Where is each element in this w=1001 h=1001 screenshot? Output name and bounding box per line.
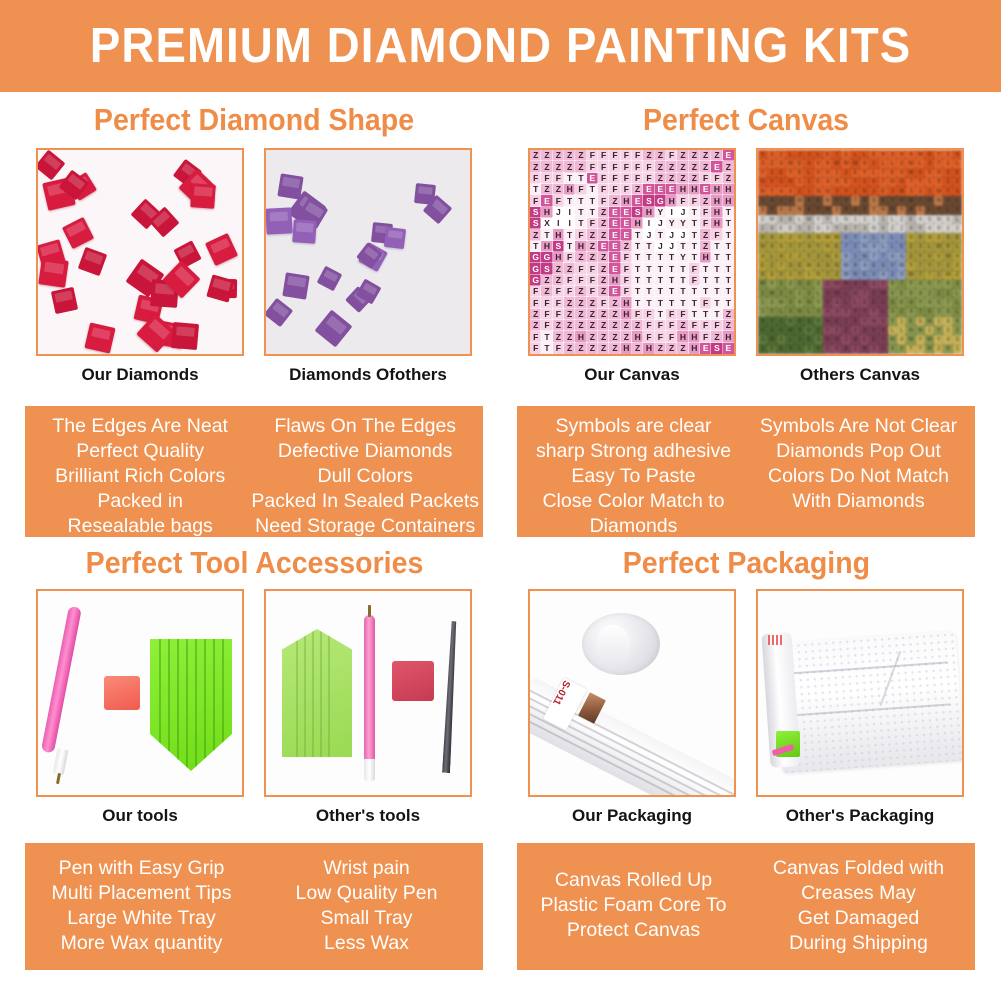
canvas-symbol-cell: N bbox=[786, 317, 795, 326]
canvas-symbol-cell: I bbox=[666, 207, 677, 218]
canvas-symbol-cell: 7 bbox=[879, 178, 888, 187]
canvas-symbol-cell: M bbox=[943, 271, 952, 280]
canvas-symbol-cell: Z bbox=[723, 320, 734, 331]
canvas-symbol-cell: Z bbox=[925, 289, 934, 298]
canvas-symbol-cell: V bbox=[906, 233, 915, 242]
canvas-symbol-cell: Z bbox=[758, 224, 767, 233]
canvas-symbol-cell: 7 bbox=[879, 169, 888, 178]
canvas-symbol-cell: 4 bbox=[804, 206, 813, 215]
canvas-symbol-cell: J bbox=[643, 229, 654, 240]
canvas-symbol-cell: 7 bbox=[916, 261, 925, 270]
canvas-symbol-cell: L bbox=[860, 150, 869, 159]
canvas-symbol-cell: 3 bbox=[823, 289, 832, 298]
canvas-symbol-cell: V bbox=[897, 206, 906, 215]
canvas-symbol-cell: Z bbox=[564, 331, 575, 342]
canvas-symbol-cell: 1 bbox=[758, 289, 767, 298]
canvas-symbol-cell: Z bbox=[530, 150, 541, 161]
canvas-symbol-cell: F bbox=[609, 150, 620, 161]
canvas-symbol-cell: 1 bbox=[777, 280, 786, 289]
canvas-symbol-cell: E bbox=[860, 335, 869, 344]
canvas-symbol-cell: S bbox=[925, 280, 934, 289]
feature-box-canvas: Symbols are clearsharp Strong adhesiveEa… bbox=[517, 406, 975, 537]
canvas-symbol-cell: 2 bbox=[851, 206, 860, 215]
canvas-symbol-cell: E bbox=[700, 343, 711, 354]
canvas-symbol-cell: 4 bbox=[777, 252, 786, 261]
features-row-1: The Edges Are NeatPerfect QualityBrillia… bbox=[8, 406, 993, 537]
feature-line: Brilliant Rich Colors bbox=[29, 464, 251, 489]
canvas-symbol-cell: Z bbox=[786, 233, 795, 242]
canvas-symbol-cell: S bbox=[860, 196, 869, 205]
canvas-symbol-cell: Z bbox=[587, 343, 598, 354]
photo-cell-our-packaging: S-011 Our Packaging bbox=[528, 589, 736, 835]
canvas-symbol-cell: T bbox=[655, 309, 666, 320]
canvas-symbol-cell: E bbox=[723, 343, 734, 354]
diamond-drill bbox=[84, 322, 115, 353]
canvas-symbol-cell: T bbox=[689, 309, 700, 320]
canvas-symbol-cell: E bbox=[897, 298, 906, 307]
canvas-symbol-cell: Y bbox=[786, 169, 795, 178]
canvas-symbol-cell: S bbox=[925, 215, 934, 224]
canvas-symbol-cell: Z bbox=[553, 161, 564, 172]
canvas-symbol-cell: Y bbox=[814, 243, 823, 252]
canvas-symbol-cell: N bbox=[841, 280, 850, 289]
canvas-symbol-cell: T bbox=[564, 173, 575, 184]
canvas-symbol-cell: L bbox=[814, 150, 823, 159]
canvas-symbol-cell: N bbox=[786, 178, 795, 187]
canvas-symbol-cell: Z bbox=[564, 320, 575, 331]
canvas-symbol-cell: V bbox=[869, 326, 878, 335]
canvas-symbol-cell: Z bbox=[814, 326, 823, 335]
canvas-symbol-cell: F bbox=[530, 343, 541, 354]
canvas-symbol-cell: E bbox=[598, 241, 609, 252]
canvas-symbol-cell: H bbox=[575, 241, 586, 252]
photo-caption-other-tools: Other's tools bbox=[264, 797, 472, 835]
canvas-symbol-cell: 3 bbox=[758, 206, 767, 215]
canvas-symbol-cell: Z bbox=[598, 320, 609, 331]
canvas-symbol-cell: 1 bbox=[925, 178, 934, 187]
canvas-symbol-cell: N bbox=[814, 271, 823, 280]
canvas-symbol-cell: 4 bbox=[851, 280, 860, 289]
canvas-symbol-cell: G bbox=[541, 252, 552, 263]
canvas-symbol-cell: E bbox=[906, 317, 915, 326]
canvas-symbol-cell: L bbox=[879, 159, 888, 168]
canvas-symbol-cell: 1 bbox=[943, 159, 952, 168]
canvas-symbol-cell: 4 bbox=[953, 150, 962, 159]
canvas-symbol-cell: Z bbox=[689, 150, 700, 161]
features-row-2: Pen with Easy GripMulti Placement TipsLa… bbox=[8, 843, 993, 970]
canvas-symbol-cell: Z bbox=[575, 252, 586, 263]
canvas-symbol-cell: Z bbox=[823, 345, 832, 354]
canvas-symbol-cell: T bbox=[689, 252, 700, 263]
canvas-symbol-cell: S bbox=[916, 169, 925, 178]
canvas-symbol-cell: 2 bbox=[860, 178, 869, 187]
canvas-symbol-cell: 4 bbox=[943, 317, 952, 326]
feature-line: Defective Diamonds bbox=[251, 439, 479, 464]
diamond-drill bbox=[414, 183, 436, 205]
canvas-symbol-cell: T bbox=[666, 297, 677, 308]
canvas-symbol-cell: L bbox=[888, 326, 897, 335]
canvas-symbol-cell: T bbox=[655, 252, 666, 263]
canvas-symbol-cell: Z bbox=[575, 286, 586, 297]
canvas-symbol-cell: 1 bbox=[795, 224, 804, 233]
canvas-symbol-cell: 4 bbox=[786, 308, 795, 317]
canvas-symbol-cell: F bbox=[598, 173, 609, 184]
canvas-symbol-cell: T bbox=[541, 331, 552, 342]
canvas-symbol-cell: V bbox=[879, 224, 888, 233]
canvas-symbol-cell: 3 bbox=[860, 326, 869, 335]
blurry-canvas-grid: S3ZL23LE71LLE9394MSY143Z4ME4V9MMM91LL2ML… bbox=[758, 150, 962, 354]
canvas-symbol-cell: J bbox=[677, 229, 688, 240]
canvas-symbol-cell: M bbox=[823, 233, 832, 242]
canvas-symbol-cell: 3 bbox=[758, 159, 767, 168]
diamond-drill bbox=[292, 219, 317, 244]
canvas-symbol-cell: E bbox=[609, 286, 620, 297]
canvas-symbol-cell: L bbox=[795, 215, 804, 224]
canvas-symbol-cell: 9 bbox=[851, 261, 860, 270]
canvas-symbol-cell: F bbox=[700, 207, 711, 218]
bubble-mailer-icon bbox=[774, 631, 964, 773]
canvas-symbol-cell: 9 bbox=[943, 243, 952, 252]
canvas-symbol-cell: E bbox=[804, 280, 813, 289]
canvas-symbol-cell: L bbox=[953, 289, 962, 298]
canvas-symbol-cell: E bbox=[777, 345, 786, 354]
canvas-symbol-cell: F bbox=[575, 184, 586, 195]
canvas-symbol-cell: Z bbox=[609, 343, 620, 354]
canvas-symbol-cell: 4 bbox=[906, 206, 915, 215]
canvas-symbol-cell: E bbox=[666, 184, 677, 195]
canvas-symbol-cell: L bbox=[953, 243, 962, 252]
canvas-symbol-cell: Z bbox=[777, 150, 786, 159]
canvas-symbol-cell: J bbox=[666, 241, 677, 252]
canvas-symbol-cell: 7 bbox=[934, 159, 943, 168]
canvas-symbol-cell: I bbox=[564, 207, 575, 218]
canvas-symbol-cell: T bbox=[541, 343, 552, 354]
canvas-symbol-cell: 4 bbox=[925, 224, 934, 233]
canvas-symbol-cell: N bbox=[823, 252, 832, 261]
canvas-symbol-cell: 1 bbox=[869, 215, 878, 224]
feature-line: Packed in bbox=[29, 489, 251, 514]
canvas-symbol-cell: 4 bbox=[777, 187, 786, 196]
feature-line: Need Storage Containers bbox=[251, 514, 479, 539]
canvas-symbol-cell: V bbox=[897, 169, 906, 178]
canvas-symbol-cell: H bbox=[723, 195, 734, 206]
canvas-symbol-cell: E bbox=[860, 280, 869, 289]
feature-line: Perfect Quality bbox=[29, 439, 251, 464]
feature-line: Less Wax bbox=[254, 931, 479, 956]
canvas-symbol-cell: 1 bbox=[804, 178, 813, 187]
canvas-symbol-cell: Y bbox=[916, 298, 925, 307]
photo-cell-our-tools: Our tools bbox=[36, 589, 244, 835]
canvas-symbol-cell: 4 bbox=[804, 317, 813, 326]
canvas-symbol-cell: Z bbox=[677, 320, 688, 331]
feature-line: Symbols are clear bbox=[521, 414, 746, 439]
canvas-symbol-cell: Y bbox=[916, 345, 925, 354]
canvas-symbol-cell: 7 bbox=[777, 261, 786, 270]
canvas-symbol-cell: 2 bbox=[786, 280, 795, 289]
canvas-symbol-cell: 3 bbox=[832, 308, 841, 317]
canvas-symbol-cell: 7 bbox=[897, 280, 906, 289]
canvas-symbol-cell: Y bbox=[823, 215, 832, 224]
canvas-symbol-cell: 1 bbox=[832, 169, 841, 178]
canvas-symbol-cell: Y bbox=[814, 317, 823, 326]
canvas-symbol-cell: Z bbox=[851, 243, 860, 252]
canvas-symbol-cell: E bbox=[609, 218, 620, 229]
canvas-symbol-cell: E bbox=[777, 169, 786, 178]
photo-cell-others-canvas: S3ZL23LE71LLE9394MSY143Z4ME4V9MMM91LL2ML… bbox=[756, 148, 964, 394]
canvas-symbol-cell: Z bbox=[655, 161, 666, 172]
canvas-symbol-cell: 1 bbox=[860, 215, 869, 224]
canvas-symbol-cell: F bbox=[621, 161, 632, 172]
canvas-symbol-cell: 4 bbox=[832, 298, 841, 307]
canvas-symbol-cell: M bbox=[832, 280, 841, 289]
canvas-symbol-cell: N bbox=[814, 233, 823, 242]
canvas-symbol-cell: 4 bbox=[906, 150, 915, 159]
canvas-symbol-cell: H bbox=[689, 184, 700, 195]
canvas-symbol-cell: S bbox=[777, 243, 786, 252]
canvas-symbol-cell: F bbox=[564, 252, 575, 263]
canvas-symbol-cell: 4 bbox=[860, 261, 869, 270]
photo-our-canvas: ZZZZZFFFFFZZFZZZZEZZZZZFFFFFFZZZZZEZFFFT… bbox=[528, 148, 736, 356]
canvas-symbol-cell: J bbox=[677, 207, 688, 218]
feature-col-ours-packaging: Canvas Rolled UpPlastic Foam Core ToProt… bbox=[521, 868, 746, 943]
canvas-symbol-cell: 1 bbox=[758, 298, 767, 307]
canvas-symbol-cell: Z bbox=[897, 224, 906, 233]
feature-line: Dull Colors bbox=[251, 464, 479, 489]
canvas-symbol-cell: M bbox=[767, 335, 776, 344]
photo-caption-our-tools: Our tools bbox=[36, 797, 244, 835]
canvas-symbol-cell: V bbox=[897, 271, 906, 280]
canvas-symbol-cell: 9 bbox=[823, 159, 832, 168]
canvas-symbol-cell: T bbox=[711, 286, 722, 297]
canvas-symbol-cell: L bbox=[953, 298, 962, 307]
canvas-symbol-cell: Z bbox=[575, 309, 586, 320]
canvas-symbol-cell: V bbox=[925, 252, 934, 261]
canvas-symbol-cell: Y bbox=[860, 169, 869, 178]
canvas-symbol-cell: 7 bbox=[832, 150, 841, 159]
canvas-symbol-cell: 1 bbox=[943, 150, 952, 159]
diamond-drill bbox=[205, 233, 238, 266]
canvas-symbol-cell: 3 bbox=[758, 345, 767, 354]
canvas-symbol-cell: M bbox=[832, 159, 841, 168]
canvas-symbol-cell: E bbox=[832, 317, 841, 326]
section-heading-canvas: Perfect Canvas bbox=[643, 102, 849, 138]
canvas-symbol-cell: Z bbox=[677, 343, 688, 354]
canvas-symbol-cell: 4 bbox=[906, 224, 915, 233]
photos-row-1: Our Diamonds Diamonds Ofothers ZZZZZFFFF bbox=[8, 148, 993, 394]
canvas-symbol-cell: S bbox=[897, 178, 906, 187]
canvas-symbol-cell: M bbox=[841, 261, 850, 270]
canvas-symbol-cell: H bbox=[666, 195, 677, 206]
canvas-symbol-cell: 2 bbox=[897, 159, 906, 168]
canvas-symbol-cell: Y bbox=[655, 207, 666, 218]
canvas-symbol-cell: T bbox=[643, 263, 654, 274]
canvas-symbol-cell: 4 bbox=[943, 280, 952, 289]
canvas-symbol-cell: Z bbox=[553, 184, 564, 195]
canvas-symbol-cell: 4 bbox=[767, 196, 776, 205]
canvas-symbol-cell: I bbox=[564, 218, 575, 229]
canvas-symbol-cell: 2 bbox=[841, 308, 850, 317]
canvas-symbol-cell: 2 bbox=[804, 224, 813, 233]
canvas-symbol-cell: Y bbox=[823, 326, 832, 335]
canvas-symbol-cell: 7 bbox=[916, 196, 925, 205]
canvas-symbol-cell: M bbox=[767, 215, 776, 224]
canvas-symbol-cell: Y bbox=[677, 252, 688, 263]
canvas-symbol-cell: Y bbox=[916, 252, 925, 261]
canvas-symbol-cell: T bbox=[723, 275, 734, 286]
canvas-symbol-cell: 7 bbox=[943, 298, 952, 307]
canvas-symbol-cell: L bbox=[851, 298, 860, 307]
canvas-symbol-cell: Y bbox=[916, 178, 925, 187]
canvas-symbol-cell: S bbox=[777, 233, 786, 242]
canvas-symbol-cell: Y bbox=[934, 326, 943, 335]
canvas-symbol-cell: H bbox=[553, 252, 564, 263]
small-drill-tray-icon bbox=[282, 629, 352, 757]
canvas-symbol-cell: F bbox=[621, 173, 632, 184]
canvas-symbol-cell: T bbox=[723, 218, 734, 229]
canvas-symbol-cell: 3 bbox=[767, 298, 776, 307]
diamond-drill bbox=[51, 287, 78, 314]
canvas-symbol-cell: E bbox=[897, 289, 906, 298]
canvas-symbol-cell: N bbox=[869, 224, 878, 233]
canvas-symbol-cell: M bbox=[832, 289, 841, 298]
canvas-symbol-cell: 3 bbox=[943, 169, 952, 178]
canvas-symbol-cell: S bbox=[879, 298, 888, 307]
canvas-symbol-cell: Z bbox=[795, 187, 804, 196]
canvas-symbol-cell: E bbox=[832, 243, 841, 252]
canvas-symbol-cell: Y bbox=[851, 308, 860, 317]
canvas-symbol-cell: Z bbox=[795, 252, 804, 261]
canvas-symbol-cell: F bbox=[621, 263, 632, 274]
canvas-symbol-cell: T bbox=[689, 218, 700, 229]
page-title: PREMIUM DIAMOND PAINTING KITS bbox=[90, 18, 911, 74]
feature-col-theirs-tools: Wrist painLow Quality PenSmall TrayLess … bbox=[254, 856, 479, 956]
feature-box-packaging: Canvas Rolled UpPlastic Foam Core ToProt… bbox=[517, 843, 975, 970]
canvas-symbol-cell: T bbox=[632, 229, 643, 240]
canvas-symbol-cell: Z bbox=[943, 289, 952, 298]
canvas-symbol-cell: 2 bbox=[795, 289, 804, 298]
canvas-symbol-cell: F bbox=[541, 320, 552, 331]
canvas-symbol-cell: Z bbox=[587, 252, 598, 263]
canvas-symbol-cell: E bbox=[851, 317, 860, 326]
canvas-symbol-cell: Y bbox=[869, 206, 878, 215]
canvas-symbol-cell: Z bbox=[643, 150, 654, 161]
canvas-symbol-cell: E bbox=[786, 224, 795, 233]
feature-line: Protect Canvas bbox=[521, 918, 746, 943]
canvas-symbol-cell: F bbox=[711, 173, 722, 184]
canvas-symbol-cell: F bbox=[553, 309, 564, 320]
canvas-symbol-cell: 9 bbox=[795, 317, 804, 326]
canvas-symbol-cell: M bbox=[767, 289, 776, 298]
canvas-symbol-cell: 3 bbox=[943, 326, 952, 335]
canvas-symbol-cell: 2 bbox=[832, 271, 841, 280]
canvas-symbol-cell: T bbox=[689, 297, 700, 308]
canvas-symbol-cell: F bbox=[530, 297, 541, 308]
canvas-symbol-cell: Z bbox=[598, 343, 609, 354]
canvas-symbol-cell: 4 bbox=[823, 308, 832, 317]
diamond-drill bbox=[190, 183, 216, 209]
canvas-symbol-cell: J bbox=[655, 218, 666, 229]
canvas-symbol-cell: F bbox=[711, 229, 722, 240]
canvas-symbol-cell: Z bbox=[598, 286, 609, 297]
canvas-symbol-cell: F bbox=[598, 297, 609, 308]
canvas-symbol-cell: N bbox=[860, 252, 869, 261]
canvas-symbol-cell: F bbox=[541, 173, 552, 184]
canvas-symbol-cell: E bbox=[795, 169, 804, 178]
canvas-symbol-cell: S bbox=[786, 261, 795, 270]
canvas-symbol-cell: Y bbox=[666, 218, 677, 229]
canvas-symbol-cell: 3 bbox=[786, 298, 795, 307]
diamond-drill bbox=[78, 247, 107, 276]
canvas-symbol-cell: 9 bbox=[897, 150, 906, 159]
canvas-symbol-cell: S bbox=[823, 261, 832, 270]
canvas-symbol-cell: 2 bbox=[777, 215, 786, 224]
canvas-symbol-cell: S bbox=[777, 178, 786, 187]
canvas-symbol-cell: S bbox=[767, 326, 776, 335]
canvas-symbol-cell: F bbox=[632, 309, 643, 320]
canvas-symbol-cell: 1 bbox=[897, 317, 906, 326]
canvas-symbol-cell: T bbox=[689, 207, 700, 218]
diamond-drill bbox=[62, 217, 94, 249]
canvas-symbol-cell: N bbox=[906, 326, 915, 335]
canvas-symbol-cell: T bbox=[575, 173, 586, 184]
canvas-symbol-cell: N bbox=[795, 308, 804, 317]
feature-line: Wrist pain bbox=[254, 856, 479, 881]
canvas-symbol-cell: Z bbox=[632, 320, 643, 331]
other-pen-tip-icon bbox=[364, 759, 375, 781]
canvas-symbol-cell: I bbox=[643, 218, 654, 229]
feature-line: Diamonds Pop Out bbox=[746, 439, 971, 464]
canvas-symbol-cell: H bbox=[643, 343, 654, 354]
photo-our-packaging: S-011 bbox=[528, 589, 736, 797]
canvas-symbol-cell: H bbox=[723, 184, 734, 195]
canvas-symbol-cell: Z bbox=[677, 173, 688, 184]
symbol-canvas-grid: ZZZZZFFFFFZZFZZZZEZZZZZFFFFFFZZZZZEZFFFT… bbox=[530, 150, 734, 354]
feature-line: Packed In Sealed Packets bbox=[251, 489, 479, 514]
canvas-symbol-cell: 9 bbox=[943, 345, 952, 354]
canvas-symbol-cell: Z bbox=[655, 173, 666, 184]
canvas-symbol-cell: T bbox=[632, 286, 643, 297]
canvas-symbol-cell: 3 bbox=[804, 289, 813, 298]
canvas-symbol-cell: V bbox=[841, 187, 850, 196]
canvas-symbol-cell: Z bbox=[621, 331, 632, 342]
feature-line: Get Damaged bbox=[746, 906, 971, 931]
canvas-symbol-cell: Z bbox=[666, 173, 677, 184]
canvas-symbol-cell: Z bbox=[934, 289, 943, 298]
canvas-symbol-cell: L bbox=[786, 335, 795, 344]
canvas-symbol-cell: Y bbox=[934, 206, 943, 215]
feature-col-theirs-packaging: Canvas Folded withCreases MayGet Damaged… bbox=[746, 856, 971, 956]
canvas-symbol-cell: S bbox=[916, 317, 925, 326]
canvas-symbol-cell: Z bbox=[553, 150, 564, 161]
canvas-symbol-cell: Z bbox=[609, 195, 620, 206]
canvas-symbol-cell: S bbox=[777, 326, 786, 335]
canvas-symbol-cell: 7 bbox=[906, 178, 915, 187]
canvas-symbol-cell: T bbox=[711, 241, 722, 252]
photo-other-tools bbox=[264, 589, 472, 797]
canvas-symbol-cell: 1 bbox=[851, 215, 860, 224]
canvas-symbol-cell: L bbox=[814, 289, 823, 298]
canvas-symbol-cell: I bbox=[553, 218, 564, 229]
feature-line: Close Color Match to bbox=[521, 489, 746, 514]
canvas-symbol-cell: 4 bbox=[804, 243, 813, 252]
canvas-symbol-cell: S bbox=[869, 196, 878, 205]
canvas-symbol-cell: T bbox=[723, 297, 734, 308]
canvas-symbol-cell: M bbox=[906, 271, 915, 280]
canvas-symbol-cell: F bbox=[530, 286, 541, 297]
canvas-symbol-cell: L bbox=[879, 308, 888, 317]
canvas-symbol-cell: 1 bbox=[841, 317, 850, 326]
canvas-symbol-cell: 2 bbox=[916, 187, 925, 196]
